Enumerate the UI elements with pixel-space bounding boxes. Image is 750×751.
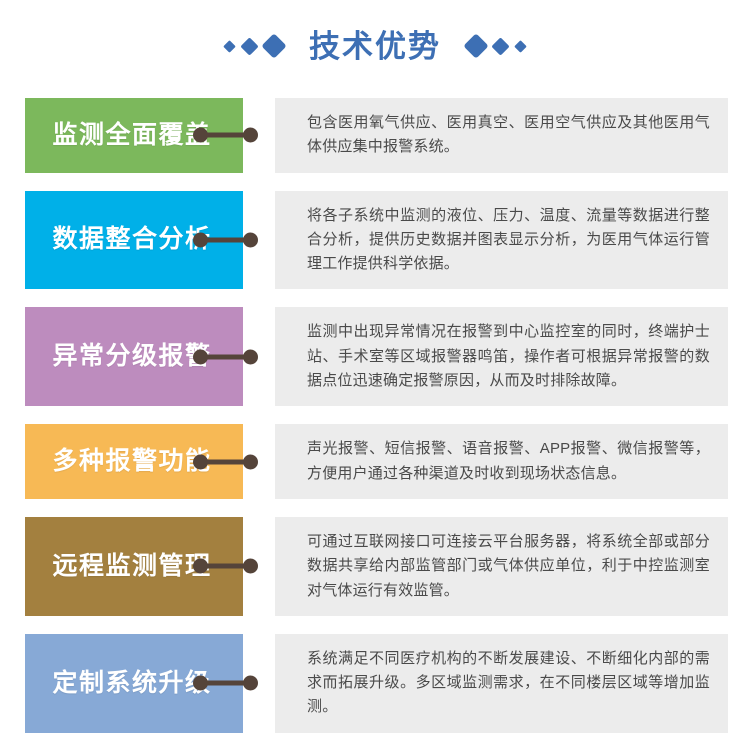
connector-dot-right-icon bbox=[243, 559, 258, 574]
advantage-label-box[interactable]: 异常分级报警 bbox=[25, 307, 243, 406]
advantage-list: 监测全面覆盖 包含医用氧气供应、医用真空、医用空气供应及其他医用气体供应集中报警… bbox=[0, 98, 750, 751]
advantage-description-panel: 监测中出现异常情况在报警到中心监控室的同时，终端护士站、手术室等区域报警器鸣笛，… bbox=[275, 307, 728, 406]
connector-dot-right-icon bbox=[243, 454, 258, 469]
advantage-row: 数据整合分析 将各子系统中监测的液位、压力、温度、流量等数据进行整合分析，提供历… bbox=[0, 191, 750, 290]
tech-advantages-infographic: 技术优势 监测全面覆盖 包含医用氧气供应、医用真空、医用空气供应及其他医用气体供… bbox=[0, 0, 750, 615]
diamond-medium-icon bbox=[491, 37, 509, 55]
advantage-description: 可通过互联网接口可连接云平台服务器，将系统全部或部分数据共享给内部监管部门或气体… bbox=[307, 530, 710, 603]
connector-dot-right-icon bbox=[243, 233, 258, 248]
connector-dot-right-icon bbox=[243, 349, 258, 364]
diamond-small-icon bbox=[223, 40, 236, 53]
diamond-large-icon bbox=[261, 33, 286, 58]
advantage-description-panel: 将各子系统中监测的液位、压力、温度、流量等数据进行整合分析，提供历史数据并图表显… bbox=[275, 191, 728, 290]
advantage-label-box[interactable]: 数据整合分析 bbox=[25, 191, 243, 290]
advantage-description-panel: 系统满足不同医疗机构的不断发展建设、不断细化内部的需求而拓展升级。多区域监测需求… bbox=[275, 634, 728, 733]
advantage-row: 监测全面覆盖 包含医用氧气供应、医用真空、医用空气供应及其他医用气体供应集中报警… bbox=[0, 98, 750, 173]
advantage-label: 远程监测管理 bbox=[52, 553, 211, 581]
advantage-row: 多种报警功能 声光报警、短信报警、语音报警、APP报警、微信报警等，方便用户通过… bbox=[0, 424, 750, 499]
advantage-label: 数据整合分析 bbox=[52, 226, 211, 254]
right-diamond-decoration bbox=[467, 37, 525, 55]
advantage-label-box[interactable]: 多种报警功能 bbox=[25, 424, 243, 499]
advantage-description: 将各子系统中监测的液位、压力、温度、流量等数据进行整合分析，提供历史数据并图表显… bbox=[307, 204, 710, 277]
advantage-description: 系统满足不同医疗机构的不断发展建设、不断细化内部的需求而拓展升级。多区域监测需求… bbox=[307, 647, 710, 720]
page-title: 技术优势 bbox=[309, 31, 441, 62]
advantage-description-panel: 包含医用氧气供应、医用真空、医用空气供应及其他医用气体供应集中报警系统。 bbox=[275, 98, 728, 173]
left-diamond-decoration bbox=[225, 37, 283, 55]
advantage-label-box[interactable]: 定制系统升级 bbox=[25, 634, 243, 733]
advantage-row: 远程监测管理 可通过互联网接口可连接云平台服务器，将系统全部或部分数据共享给内部… bbox=[0, 517, 750, 616]
diamond-small-icon bbox=[514, 40, 527, 53]
advantage-description-panel: 声光报警、短信报警、语音报警、APP报警、微信报警等，方便用户通过各种渠道及时收… bbox=[275, 424, 728, 499]
advantage-label-box[interactable]: 远程监测管理 bbox=[25, 517, 243, 616]
advantage-description: 声光报警、短信报警、语音报警、APP报警、微信报警等，方便用户通过各种渠道及时收… bbox=[307, 437, 710, 486]
advantage-description-panel: 可通过互联网接口可连接云平台服务器，将系统全部或部分数据共享给内部监管部门或气体… bbox=[275, 517, 728, 616]
advantage-row: 定制系统升级 系统满足不同医疗机构的不断发展建设、不断细化内部的需求而拓展升级。… bbox=[0, 634, 750, 733]
diamond-medium-icon bbox=[240, 37, 258, 55]
connector-dot-right-icon bbox=[243, 128, 258, 143]
connector-dot-right-icon bbox=[243, 676, 258, 691]
advantage-label-box[interactable]: 监测全面覆盖 bbox=[25, 98, 243, 173]
diamond-large-icon bbox=[463, 33, 488, 58]
advantage-label: 定制系统升级 bbox=[52, 670, 211, 698]
advantage-row: 异常分级报警 监测中出现异常情况在报警到中心监控室的同时，终端护士站、手术室等区… bbox=[0, 307, 750, 406]
advantage-description: 监测中出现异常情况在报警到中心监控室的同时，终端护士站、手术室等区域报警器鸣笛，… bbox=[307, 320, 710, 393]
advantage-label: 异常分级报警 bbox=[52, 343, 211, 371]
advantage-label: 监测全面覆盖 bbox=[52, 122, 211, 150]
advantage-description: 包含医用氧气供应、医用真空、医用空气供应及其他医用气体供应集中报警系统。 bbox=[307, 111, 710, 160]
advantage-label: 多种报警功能 bbox=[52, 448, 211, 476]
page-header: 技术优势 bbox=[0, 0, 750, 92]
